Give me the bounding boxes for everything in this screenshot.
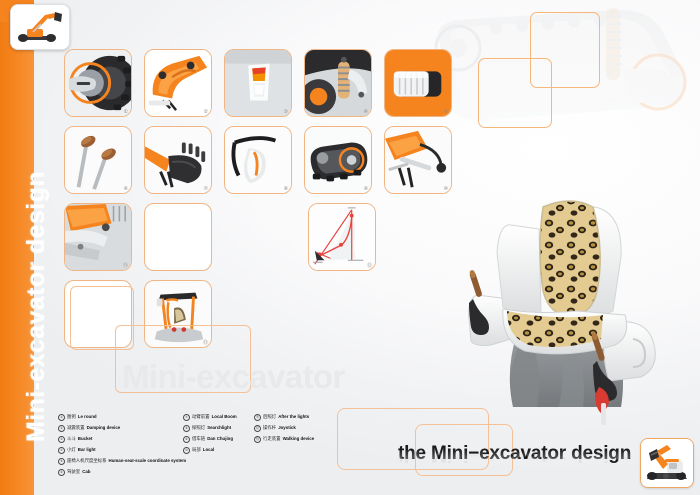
legend-label-en: Dan Chujing xyxy=(207,437,233,442)
thumb-number: ⑦ xyxy=(204,187,208,192)
decor-outline-rect-1 xyxy=(530,12,600,88)
legend-label-cn: 行走装置 xyxy=(263,437,281,442)
thumb-headlight[interactable]: ⑤ xyxy=(384,49,452,117)
title-excavator-icon xyxy=(640,438,694,488)
thumb-wheel-sprocket[interactable]: ① xyxy=(64,49,132,117)
legend-label-cn: 操作杆 xyxy=(263,426,276,431)
thumb-number: ⑨ xyxy=(364,187,368,192)
legend-label-cn: 减震装置 xyxy=(67,426,85,431)
thumb-indicator-lamp[interactable]: ③ xyxy=(224,49,292,117)
legend-label-cn: 驾驶室 xyxy=(67,470,80,475)
legend-number: ① xyxy=(58,414,65,421)
thumb-number: ⑧ xyxy=(284,187,288,192)
legend-label-en: Walking device xyxy=(283,437,315,442)
legend-item: ⑥ 驾驶室 Cab xyxy=(58,469,208,476)
legend-number: ⑧ xyxy=(183,425,190,432)
legend-number: ③ xyxy=(58,436,65,443)
legend-label-cn: 小灯 xyxy=(67,448,76,453)
thumb-number: ⑫ xyxy=(367,264,372,269)
legend-item: ⑩ 局部 Local xyxy=(183,447,263,454)
legend-label-en: Le round xyxy=(78,415,97,420)
left-accent-band: Mini-excavator design xyxy=(0,0,34,495)
thumb-number: ⑥ xyxy=(124,187,128,192)
legend-number: ⑩ xyxy=(183,447,190,454)
legend-block: ① 图例 Le round ② 减震装置 Damping device ③ 斗斗… xyxy=(58,414,378,476)
legend-label-en: Bucket xyxy=(78,437,93,442)
legend-label-cn: 座椅人机尺度坐标系 xyxy=(67,459,107,464)
thumb-door-handle[interactable]: ⑧ xyxy=(224,126,292,194)
legend-number: ⑥ xyxy=(58,469,65,476)
legend-column-2: ⑦ 动臂前置 Local Boom ⑧ 探照灯 Searchlight ⑨ 借车… xyxy=(183,414,263,458)
legend-label-en: After the lights xyxy=(278,415,309,420)
legend-label-en: Joystick xyxy=(278,426,296,431)
legend-item: ⑦ 动臂前置 Local Boom xyxy=(183,414,263,421)
legend-number: ⑫ xyxy=(254,425,261,432)
thumb-boom-cylinder[interactable]: ⑩ xyxy=(384,126,452,194)
legend-number: ⑨ xyxy=(183,436,190,443)
legend-label-en: Cab xyxy=(82,470,90,475)
legend-item: ⑪ 后照灯 After the lights xyxy=(254,414,374,421)
title-block: the Mini−excavator design the Mini−excav… xyxy=(398,444,648,484)
legend-label-en: Local xyxy=(203,448,214,453)
thumb-number: ⑩ xyxy=(444,187,448,192)
thumb-number: ① xyxy=(124,110,128,115)
thumb-blank-frame-a[interactable] xyxy=(144,203,212,271)
thumb-control-levers[interactable]: ⑥ xyxy=(64,126,132,194)
thumb-bucket[interactable]: ⑦ xyxy=(144,126,212,194)
thumb-number: ⑪ xyxy=(123,264,128,269)
legend-number: ⑦ xyxy=(183,414,190,421)
legend-label-cn: 动臂前置 xyxy=(192,415,210,420)
legend-label-en: Searchlight xyxy=(207,426,231,431)
legend-item: ⑫ 操作杆 Joystick xyxy=(254,425,374,432)
thumb-boom-arm-orange[interactable]: ② xyxy=(144,49,212,117)
legend-number: ⑬ xyxy=(254,436,261,443)
side-band-title: Mini-excavator design xyxy=(19,0,53,448)
legend-label-cn: 借车链 xyxy=(192,437,205,442)
legend-label-en: Bar light xyxy=(78,448,96,453)
thumb-number: ② xyxy=(204,110,208,115)
legend-item: ⑤ 座椅人机尺度坐标系 Human-seat-scale coordinate … xyxy=(58,458,208,465)
legend-label-cn: 后照灯 xyxy=(263,415,276,420)
legend-label-en: Human-seat-scale coordinate system xyxy=(109,459,187,464)
legend-label-cn: 局部 xyxy=(192,448,201,453)
thumb-number: ④ xyxy=(364,110,368,115)
logo-card xyxy=(10,4,70,50)
thumb-arm-detail[interactable]: ⑪ xyxy=(64,203,132,271)
thumb-number: ⑬ xyxy=(203,341,208,346)
legend-item: ⑬ 行走装置 Walking device xyxy=(254,436,374,443)
legend-item: ⑨ 借车链 Dan Chujing xyxy=(183,436,263,443)
legend-label-cn: 图例 xyxy=(67,415,76,420)
legend-item: ⑧ 探照灯 Searchlight xyxy=(183,425,263,432)
legend-number: ④ xyxy=(58,447,65,454)
decor-outline-rect-2 xyxy=(478,58,552,128)
legend-column-3: ⑪ 后照灯 After the lights ⑫ 操作杆 Joystick ⑬ … xyxy=(254,414,374,447)
legend-label-en: Damping device xyxy=(87,426,121,431)
legend-label-cn: 探照灯 xyxy=(192,426,205,431)
legend-label-en: Local Boom xyxy=(212,415,237,420)
poster-canvas: Mini-excavator design xyxy=(0,0,700,495)
operator-seat-render xyxy=(455,195,690,440)
thumb-damping-device[interactable]: ④ xyxy=(304,49,372,117)
background-watermark-text: Mini-excavator xyxy=(122,358,345,396)
thumb-seat-scale-diagram[interactable]: ⑫ xyxy=(308,203,376,271)
legend-number: ⑪ xyxy=(254,414,261,421)
legend-number: ⑤ xyxy=(58,458,65,465)
legend-number: ② xyxy=(58,425,65,432)
thumb-number: ⑤ xyxy=(444,110,448,115)
legend-label-cn: 斗斗 xyxy=(67,437,76,442)
thumb-number: ③ xyxy=(284,110,288,115)
excavator-logo-icon xyxy=(11,5,69,49)
page-title-reflection: the Mini−excavator design xyxy=(398,445,648,464)
thumb-track-undercarriage[interactable]: ⑨ xyxy=(304,126,372,194)
